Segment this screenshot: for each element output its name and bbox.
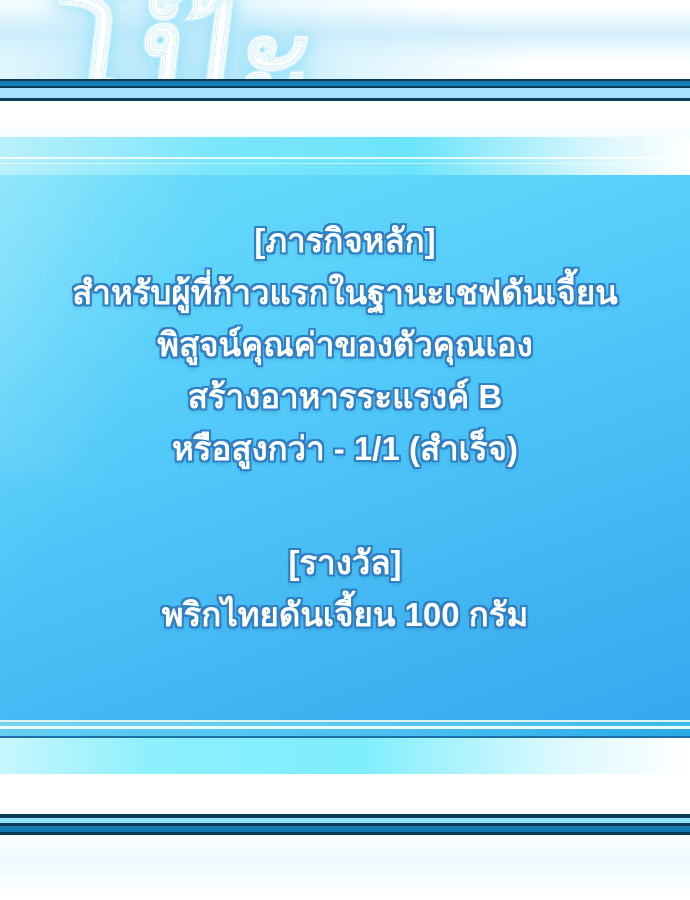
mission-line-1: สำหรับผู้ที่ก้าวแรกในฐานะเชฟดันเจี้ยน	[0, 267, 690, 319]
top-decorative-band: โป๊ะ	[0, 0, 690, 175]
mission-line-3: สร้างอาหารระแรงค์ B	[0, 371, 690, 423]
top-cyan-hairline-2	[0, 163, 690, 164]
quest-message-panel: [ภารกิจหลัก] สำหรับผู้ที่ก้าวแรกในฐานะเช…	[0, 175, 690, 720]
top-rule-light-1	[0, 88, 690, 98]
reward-item: พริกไทยดันเจี้ยน 100 กรัม	[0, 589, 690, 641]
mission-line-2: พิสูจน์คุณค่าของตัวคุณเอง	[0, 319, 690, 371]
mission-line-4: หรือสูงกว่า - 1/1 (สำเร็จ)	[0, 423, 690, 475]
bottom-white-gap-1	[0, 774, 690, 814]
top-white-gap	[0, 101, 690, 137]
top-cyan-slab	[0, 137, 690, 175]
mission-heading: [ภารกิจหลัก]	[0, 215, 690, 267]
section-spacer	[0, 475, 690, 537]
bottom-decorative-band	[0, 720, 690, 900]
top-cyan-hairline-1	[0, 157, 690, 159]
reward-heading: [รางวัล]	[0, 537, 690, 589]
comic-panel: โป๊ะ [ภารกิจหลัก] สำหรับผู้ที่ก้าวแรกในฐ…	[0, 0, 690, 900]
bottom-white-gap-2	[0, 835, 690, 900]
quest-text-block: [ภารกิจหลัก] สำหรับผู้ที่ก้าวแรกในฐานะเช…	[0, 175, 690, 641]
bottom-aqua-slab	[0, 738, 690, 774]
bottom-cyan-bar-2	[0, 729, 690, 736]
